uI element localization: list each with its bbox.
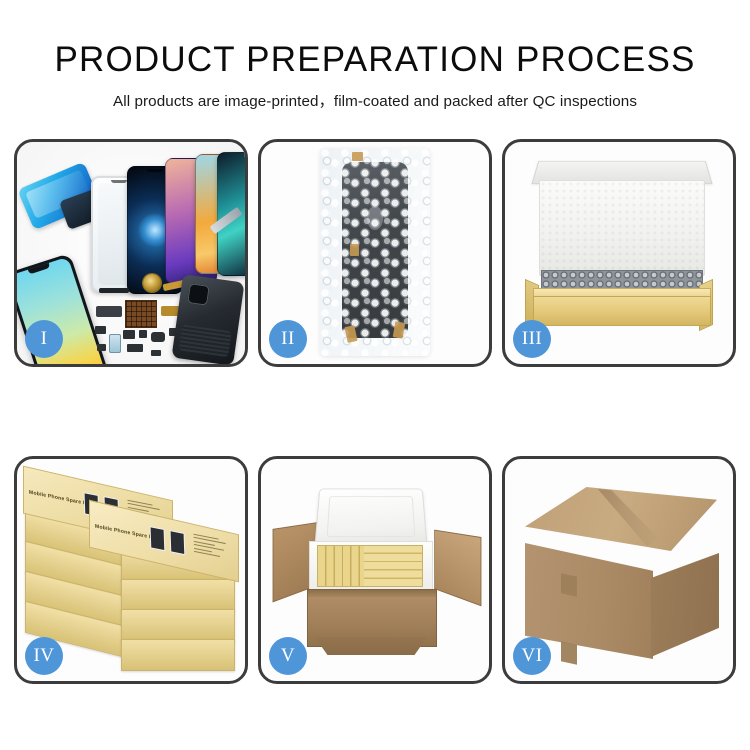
process-step-panel-1: I [14,139,248,367]
battery-connector-part [109,334,121,353]
tape-piece [352,152,363,161]
page-subtitle: All products are image-printed，film-coat… [0,80,750,111]
carton-bottom [307,637,435,655]
bubble-texture-layer [320,148,430,356]
step-badge-6: VI [513,637,551,675]
camera-lens-ring-part [143,274,161,292]
step-badge-1: I [25,320,63,358]
tape-piece [561,573,577,596]
stacked-box-edge [121,579,235,611]
small-component-part [123,330,135,339]
small-component-part [95,326,106,334]
kraft-box-front [533,296,711,326]
small-component-part [151,332,165,342]
label-phone-thumbnail [150,526,166,551]
bubble-wrap-bag [320,148,430,356]
process-step-grid: I II III [14,139,736,684]
step-badge-2: II [269,320,307,358]
process-step-panel-2: II [258,139,492,367]
carton-side-face [651,553,719,657]
step-badge-3: III [513,320,551,358]
stacked-box-edge [121,639,235,671]
stacked-box-edge [121,609,235,641]
yellow-box-row-horizontal [364,546,422,586]
process-step-panel-6: VI [502,456,736,684]
small-component-part [127,344,143,352]
notch-shape [147,169,163,172]
label-spec-lines [193,534,234,566]
small-component-part [97,344,106,351]
tape-piece [561,641,577,664]
box-stack: Mobile Phone Spare Parts Mobile Phone Sp… [23,477,239,667]
label-phone-thumbnail [170,530,186,555]
flex-cable-part [96,306,122,317]
notch-shape [111,180,127,183]
yellow-box-row-vertical [318,546,364,586]
white-foam-pad [539,180,705,276]
small-component-part [151,350,161,356]
phone-back-housing-part [171,274,244,364]
process-step-panel-3: III [502,139,736,367]
foam-cooler-lid [314,488,427,546]
page-title: PRODUCT PREPARATION PROCESS [0,0,750,80]
carton-top-face [525,487,717,551]
tape-piece [350,244,359,256]
process-step-panel-4: Mobile Phone Spare Parts Mobile Phone Sp… [14,456,248,684]
yellow-boxes-inside [317,545,423,587]
page-header: PRODUCT PREPARATION PROCESS All products… [0,0,750,111]
step-badge-5: V [269,637,307,675]
earpiece-speaker-part [99,288,129,293]
step-badge-4: IV [25,637,63,675]
carton-flap-right [434,530,481,607]
logic-board-chip-part [125,300,157,328]
process-step-panel-5: V [258,456,492,684]
small-component-part [139,330,147,338]
